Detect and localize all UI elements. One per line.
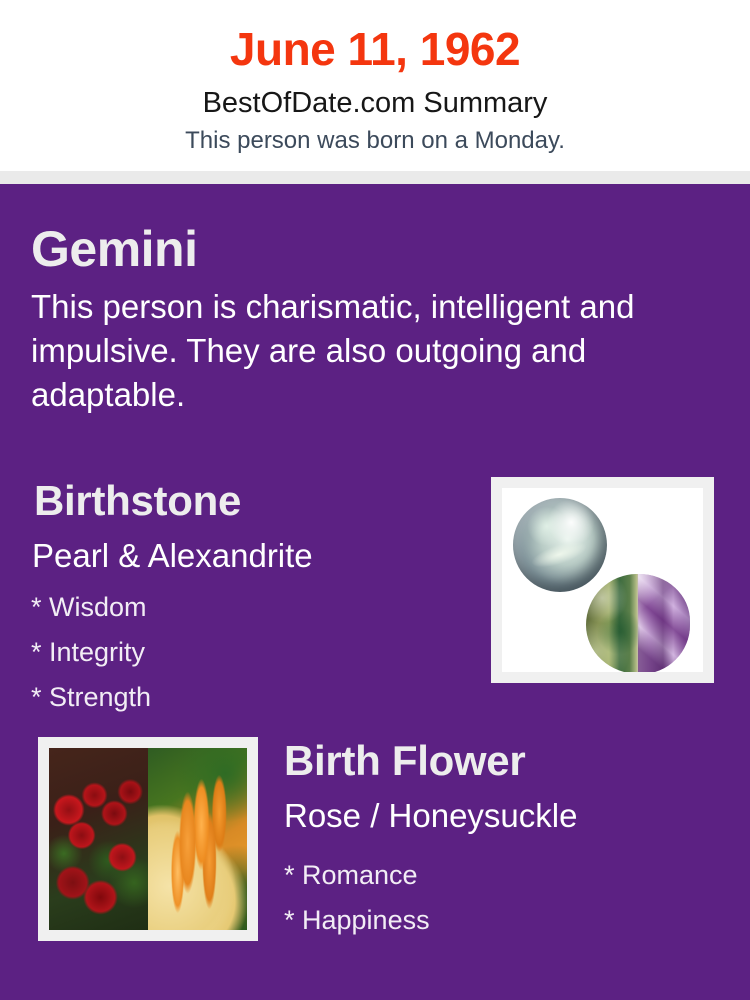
birth-flower-trait-list: * Romance * Happiness bbox=[284, 853, 714, 943]
birthstone-name: Pearl & Alexandrite bbox=[32, 536, 313, 576]
header-divider bbox=[0, 171, 750, 184]
rose-photo-icon bbox=[49, 748, 148, 930]
summary-panel: Gemini This person is charismatic, intel… bbox=[0, 184, 750, 1000]
zodiac-description: This person is charismatic, intelligent … bbox=[31, 285, 701, 417]
birthstone-image bbox=[502, 488, 703, 672]
list-item: * Happiness bbox=[284, 898, 714, 943]
birthstone-image-frame bbox=[491, 477, 714, 683]
birth-flower-name: Rose / Honeysuckle bbox=[284, 796, 577, 836]
header: June 11, 1962 BestOfDate.com Summary Thi… bbox=[0, 0, 750, 171]
list-item: * Romance bbox=[284, 853, 714, 898]
list-item: * Wisdom bbox=[31, 585, 461, 630]
birth-flower-image bbox=[49, 748, 247, 930]
birth-flower-image-frame bbox=[38, 737, 258, 941]
site-name: BestOfDate.com Summary bbox=[0, 85, 750, 121]
honeysuckle-photo-icon bbox=[148, 748, 247, 930]
birthstone-title: Birthstone bbox=[34, 475, 241, 527]
infographic-page: June 11, 1962 BestOfDate.com Summary Thi… bbox=[0, 0, 750, 1000]
zodiac-sign-title: Gemini bbox=[31, 219, 197, 279]
birth-day-of-week-text: This person was born on a Monday. bbox=[0, 126, 750, 156]
birthstone-trait-list: * Wisdom * Integrity * Strength bbox=[31, 585, 461, 720]
page-title-date: June 11, 1962 bbox=[0, 20, 750, 78]
alexandrite-gem-icon bbox=[586, 574, 690, 672]
list-item: * Strength bbox=[31, 675, 461, 720]
list-item: * Integrity bbox=[31, 630, 461, 675]
birth-flower-title: Birth Flower bbox=[284, 735, 525, 787]
